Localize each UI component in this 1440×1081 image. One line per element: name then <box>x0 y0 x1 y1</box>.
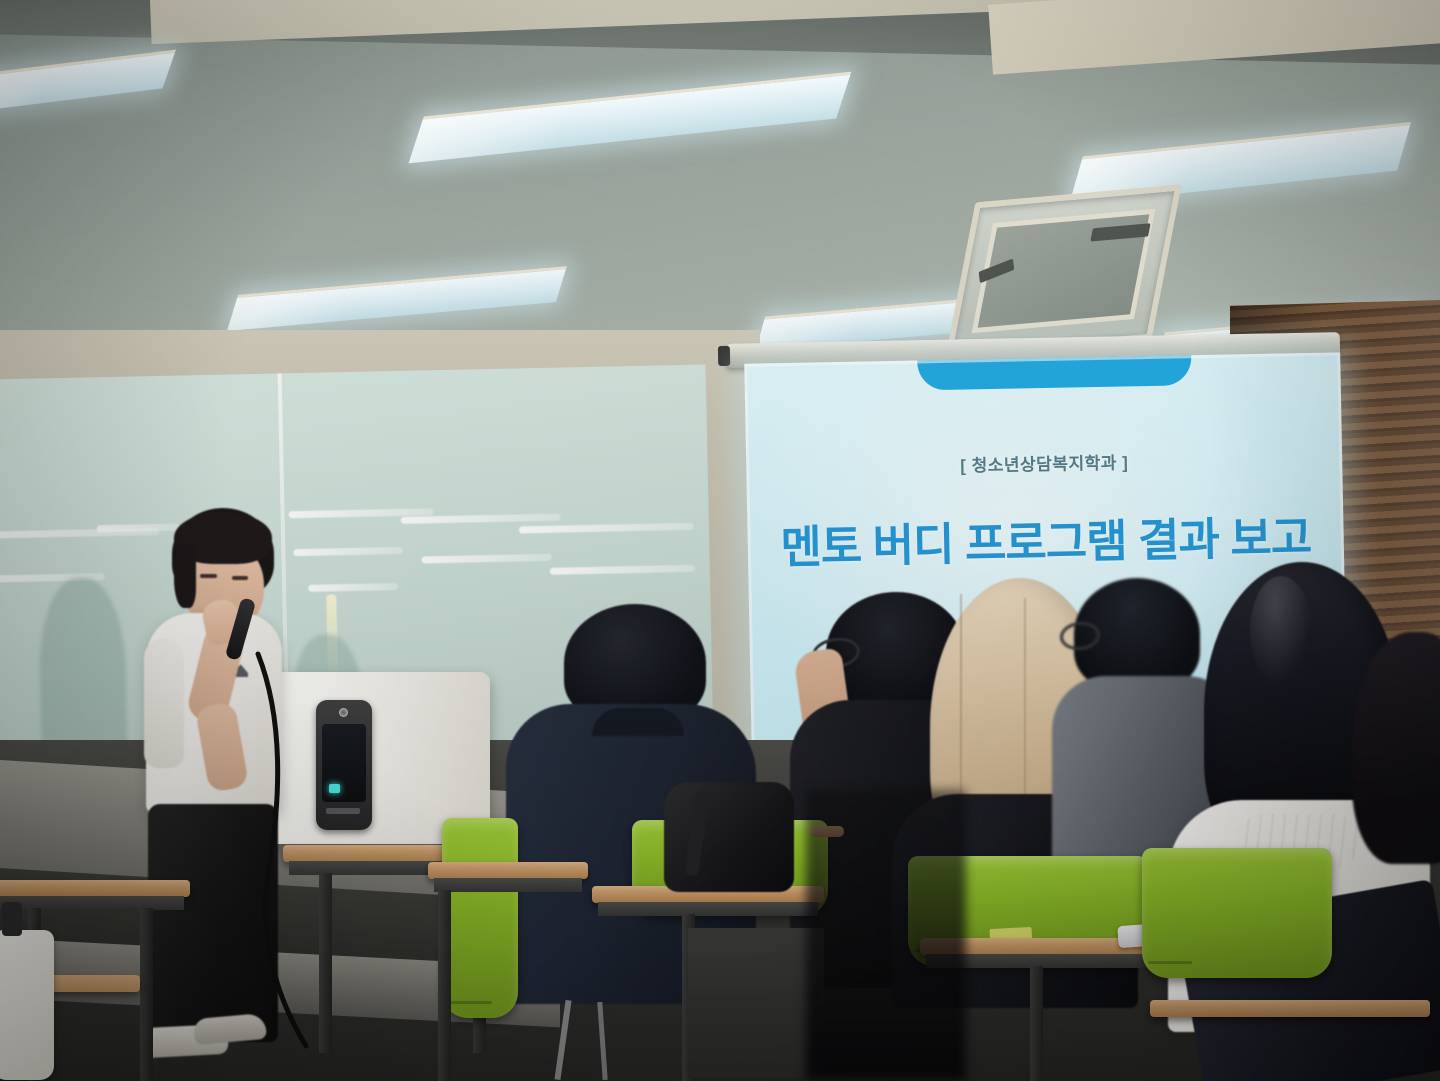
student-hair <box>1352 632 1440 864</box>
light-reflection <box>550 565 695 575</box>
lecture-room-photo: [ 청소년상담복지학과 ] 멘토 버디 프로그램 결과 보고 <box>0 0 1440 1081</box>
presenter-arm <box>144 638 184 768</box>
screen-housing-endcap <box>718 346 730 366</box>
light-reflection <box>519 523 694 534</box>
foreground-shadow <box>806 790 966 1081</box>
desk-leg <box>1030 966 1043 1081</box>
sanitizer-pump-icon[interactable] <box>2 902 22 936</box>
chair-vent-notch <box>1148 961 1192 964</box>
light-reflection <box>421 554 551 564</box>
chair[interactable] <box>1142 848 1332 978</box>
desk-top <box>0 880 190 897</box>
hair-highlight <box>1250 576 1312 686</box>
student-collar <box>592 708 684 736</box>
presenter-eye <box>200 574 217 578</box>
chair-vent-notch <box>448 1001 492 1004</box>
microphone-cable <box>210 650 390 1070</box>
chair-back <box>1142 848 1332 978</box>
presenter-sideburn <box>174 544 196 608</box>
desk-leg <box>438 890 451 1081</box>
desk-panel <box>434 878 582 892</box>
desk-top <box>428 862 588 879</box>
desk-leg <box>140 908 153 1081</box>
desk-top <box>1150 1000 1430 1017</box>
presenter-eye <box>232 576 248 580</box>
sanitizer-bottle <box>0 930 54 1080</box>
desk-panel <box>598 902 818 916</box>
desk-modesty-panel <box>688 928 824 1078</box>
backpack <box>664 782 794 892</box>
ceiling-ac-vent-icon <box>945 184 1181 357</box>
chair-back <box>442 818 518 1018</box>
chair[interactable] <box>442 818 518 1018</box>
